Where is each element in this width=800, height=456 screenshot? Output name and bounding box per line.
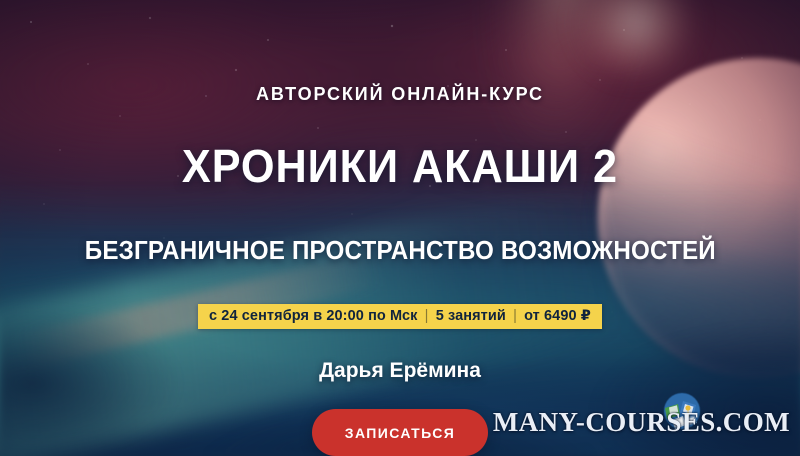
detail-price: от 6490 ₽ xyxy=(524,308,591,324)
detail-lesson-count: 5 занятий xyxy=(436,308,506,324)
course-kicker: АВТОРСКИЙ ОНЛАЙН-КУРС xyxy=(256,84,544,105)
page-title: ХРОНИКИ АКАШИ 2 xyxy=(182,143,618,189)
enroll-button[interactable]: ЗАПИСАТЬСЯ xyxy=(312,409,488,456)
watermark: MANY-COURSES.COM xyxy=(493,407,790,438)
detail-separator-2: | xyxy=(510,308,520,324)
page-subtitle: БЕЗГРАНИЧНОЕ ПРОСТРАНСТВО ВОЗМОЖНОСТЕЙ xyxy=(84,237,715,263)
promo-banner: АВТОРСКИЙ ОНЛАЙН-КУРС ХРОНИКИ АКАШИ 2 БЕ… xyxy=(0,0,800,456)
author-name: Дарья Ерёмина xyxy=(319,359,481,383)
course-details-badge: с 24 сентября в 20:00 по Мск | 5 занятий… xyxy=(198,304,602,329)
watermark-text: MANY-COURSES.COM xyxy=(493,407,790,438)
detail-start-date: с 24 сентября в 20:00 по Мск xyxy=(209,308,418,324)
detail-separator-1: | xyxy=(422,308,432,324)
